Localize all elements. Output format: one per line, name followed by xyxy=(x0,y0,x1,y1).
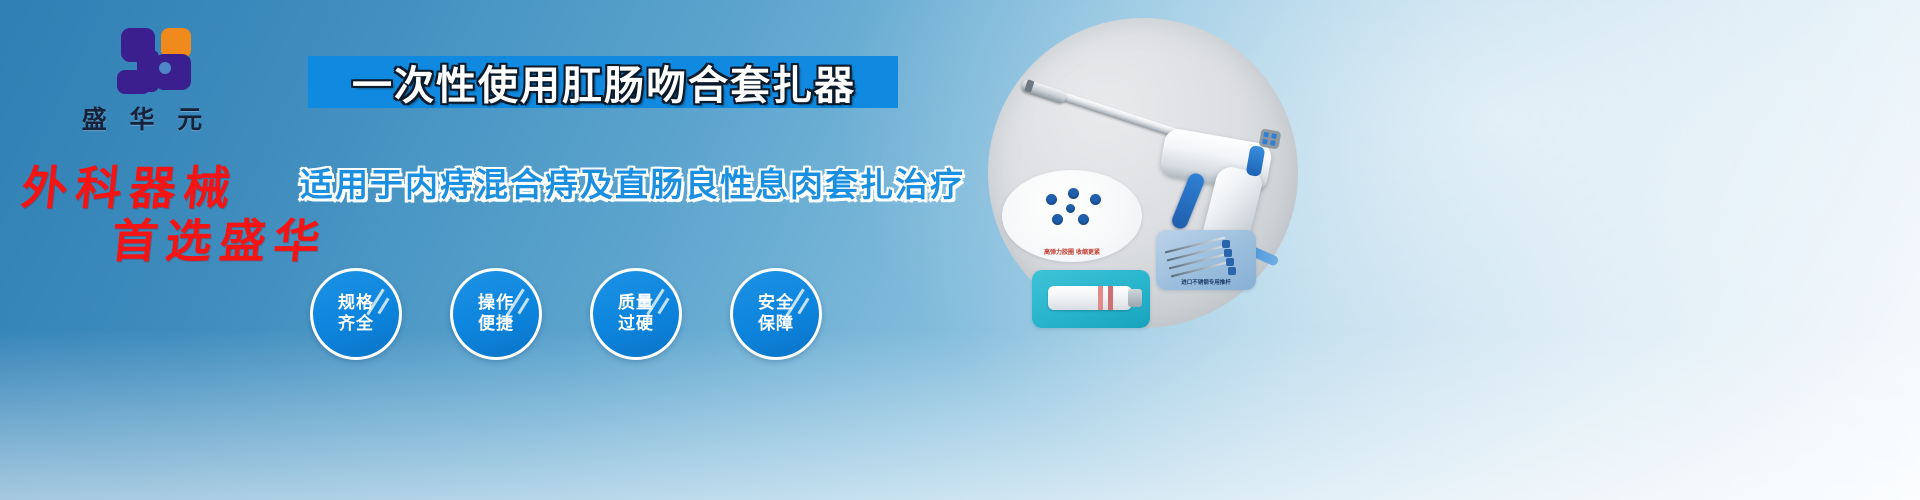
badge-label-line2: 过硬 xyxy=(618,314,654,335)
badge-shine-icon xyxy=(797,298,809,315)
page-subtitle: 适用于内痔混合痔及直肠良性息肉套扎治疗 xyxy=(300,158,900,206)
badge-label-line2: 齐全 xyxy=(338,314,374,335)
rubber-bands-caption: 高弹力胶圈 收缩更紧 xyxy=(1002,247,1142,256)
rubber-bands-photo: 高弹力胶圈 收缩更紧 xyxy=(1002,170,1142,262)
brand-logo[interactable]: 盛 华 元 xyxy=(62,26,222,136)
feature-badge-spec[interactable]: 规格 齐全 xyxy=(310,268,402,360)
feature-badge-operation[interactable]: 操作 便捷 xyxy=(450,268,542,360)
feature-badge-quality[interactable]: 质量 过硬 xyxy=(590,268,682,360)
badge-shine-icon xyxy=(377,298,389,315)
feature-badge-group: 规格 齐全 操作 便捷 质量 过硬 安全 保障 xyxy=(310,268,870,360)
device-trigger xyxy=(1170,171,1207,231)
product-banner: 盛 华 元 外科器械 首选盛华 一次性使用肛肠吻合套扎器 适用于内痔混合痔及直肠… xyxy=(0,0,1920,500)
badge-label-line2: 便捷 xyxy=(478,314,514,335)
badge-label-line1: 安全 xyxy=(758,293,794,314)
badge-label-line2: 保障 xyxy=(758,314,794,335)
badge-label-line1: 规格 xyxy=(338,293,374,314)
feature-badge-safety[interactable]: 安全 保障 xyxy=(730,268,822,360)
product-image: 高弹力胶圈 收缩更紧 进口不锈钢专用推杆 xyxy=(988,18,1298,328)
ligation-needles-photo: 进口不锈钢专用推杆 xyxy=(1156,230,1256,290)
badge-shine-icon xyxy=(657,298,669,315)
disposable-tube-photo xyxy=(1032,270,1150,328)
badge-shine-icon xyxy=(517,298,529,315)
device-control-panel xyxy=(1259,128,1282,149)
squares-logo-icon xyxy=(99,26,185,96)
ligation-needles-caption: 进口不锈钢专用推杆 xyxy=(1156,278,1256,286)
slogan-line-2: 首选盛华 xyxy=(109,205,332,271)
badge-label-line1: 操作 xyxy=(478,293,514,314)
page-title: 一次性使用肛肠吻合套扎器 xyxy=(318,56,890,108)
brand-name: 盛 华 元 xyxy=(62,100,222,136)
badge-label-line1: 质量 xyxy=(618,293,654,314)
